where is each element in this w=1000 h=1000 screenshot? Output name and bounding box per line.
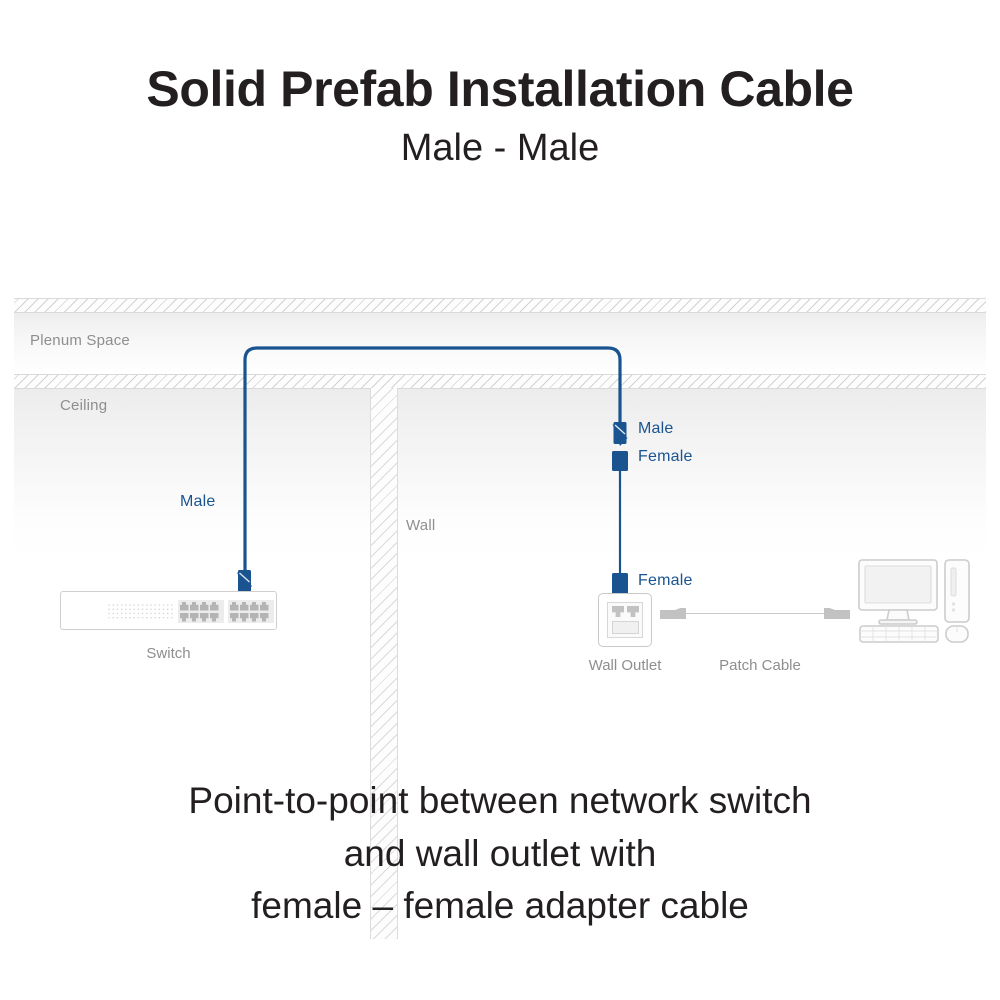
page-title: Solid Prefab Installation Cable	[0, 0, 1000, 116]
cable-path-main	[245, 348, 620, 588]
connector-label-female-outlet: Female	[638, 572, 693, 590]
rj45-jack	[627, 606, 639, 617]
outlet-faceplate-inner	[607, 602, 643, 638]
device-label-patch-cable: Patch Cable	[700, 657, 820, 674]
rj45-port	[180, 613, 189, 622]
port-row-top	[230, 602, 273, 611]
port-row-bottom	[230, 613, 273, 622]
rj45-port	[200, 602, 209, 611]
connector-label-male-switch: Male	[180, 493, 215, 511]
connector-label-female-adapter: Female	[638, 448, 693, 466]
header: Solid Prefab Installation Cable Male - M…	[0, 0, 1000, 170]
rj45-port	[260, 613, 269, 622]
rj45-port	[230, 602, 239, 611]
female-connector-outlet-icon	[612, 573, 628, 594]
rj45-port	[210, 613, 219, 622]
switch-port-bank-a	[178, 600, 224, 623]
port-row-bottom	[180, 613, 223, 622]
caption: Point-to-point between network switch an…	[0, 775, 1000, 933]
rj45-port	[250, 613, 259, 622]
installation-diagram: Plenum Space Ceiling Wall Male	[0, 270, 1000, 710]
caption-line-2: and wall outlet with	[0, 828, 1000, 881]
rj45-port	[180, 602, 189, 611]
rj45-plug-right-icon	[824, 608, 850, 619]
rj45-port	[200, 613, 209, 622]
switch-vent-grille	[107, 603, 175, 621]
network-switch-icon	[60, 591, 277, 630]
page-subtitle: Male - Male	[0, 116, 1000, 170]
rj45-plug-left-icon	[660, 608, 686, 619]
female-connector-adapter-icon	[612, 451, 628, 471]
cable-run-svg	[0, 270, 1000, 710]
outlet-jack-group	[612, 606, 639, 617]
desktop-computer-icon	[856, 558, 988, 644]
rj45-port	[250, 602, 259, 611]
caption-line-3: female – female adapter cable	[0, 880, 1000, 933]
rj45-port	[190, 602, 199, 611]
patch-cable-icon	[660, 605, 850, 623]
switch-port-bank-b	[228, 600, 274, 623]
outlet-blank-panel	[612, 621, 639, 634]
wall-outlet-icon	[598, 593, 652, 647]
rj45-port	[260, 602, 269, 611]
rj45-port	[240, 613, 249, 622]
rj45-port	[210, 602, 219, 611]
rj45-port	[240, 602, 249, 611]
patch-cable-wire	[682, 613, 828, 614]
port-row-top	[180, 602, 223, 611]
device-label-switch: Switch	[60, 645, 277, 662]
rj45-jack	[612, 606, 624, 617]
rj45-port	[190, 613, 199, 622]
caption-line-1: Point-to-point between network switch	[0, 775, 1000, 828]
connector-label-male-adapter: Male	[638, 420, 673, 438]
device-label-wall-outlet: Wall Outlet	[565, 657, 685, 674]
male-connector-adapter-icon	[613, 422, 628, 446]
rj45-port	[230, 613, 239, 622]
